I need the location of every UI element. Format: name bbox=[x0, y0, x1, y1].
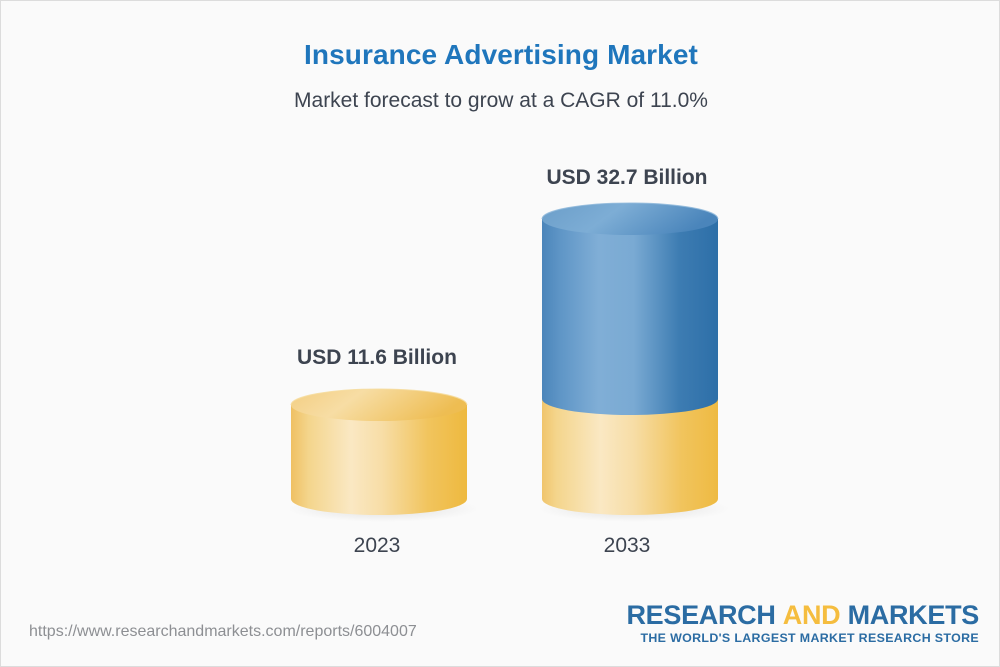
logo-wordmark: RESEARCH AND MARKETS bbox=[626, 601, 979, 629]
bar-value-label-2033: USD 32.7 Billion bbox=[467, 166, 787, 190]
research-and-markets-logo: RESEARCH AND MARKETS THE WORLD'S LARGEST… bbox=[626, 601, 979, 645]
logo-word-and: AND bbox=[783, 600, 841, 630]
logo-word-research: RESEARCH bbox=[626, 600, 775, 630]
bar-value-label-2023: USD 11.6 Billion bbox=[217, 346, 537, 370]
source-url[interactable]: https://www.researchandmarkets.com/repor… bbox=[29, 623, 417, 641]
plot-area: USD 11.6 Billion bbox=[1, 1, 1000, 667]
logo-word-markets: MARKETS bbox=[848, 600, 979, 630]
bar-cylinder-2033 bbox=[538, 199, 722, 525]
bar-cylinder-2023 bbox=[287, 385, 471, 525]
bar-category-label-2033: 2033 bbox=[467, 534, 787, 558]
logo-tagline: THE WORLD'S LARGEST MARKET RESEARCH STOR… bbox=[626, 631, 979, 645]
chart-canvas: Insurance Advertising Market Market fore… bbox=[0, 0, 1000, 667]
